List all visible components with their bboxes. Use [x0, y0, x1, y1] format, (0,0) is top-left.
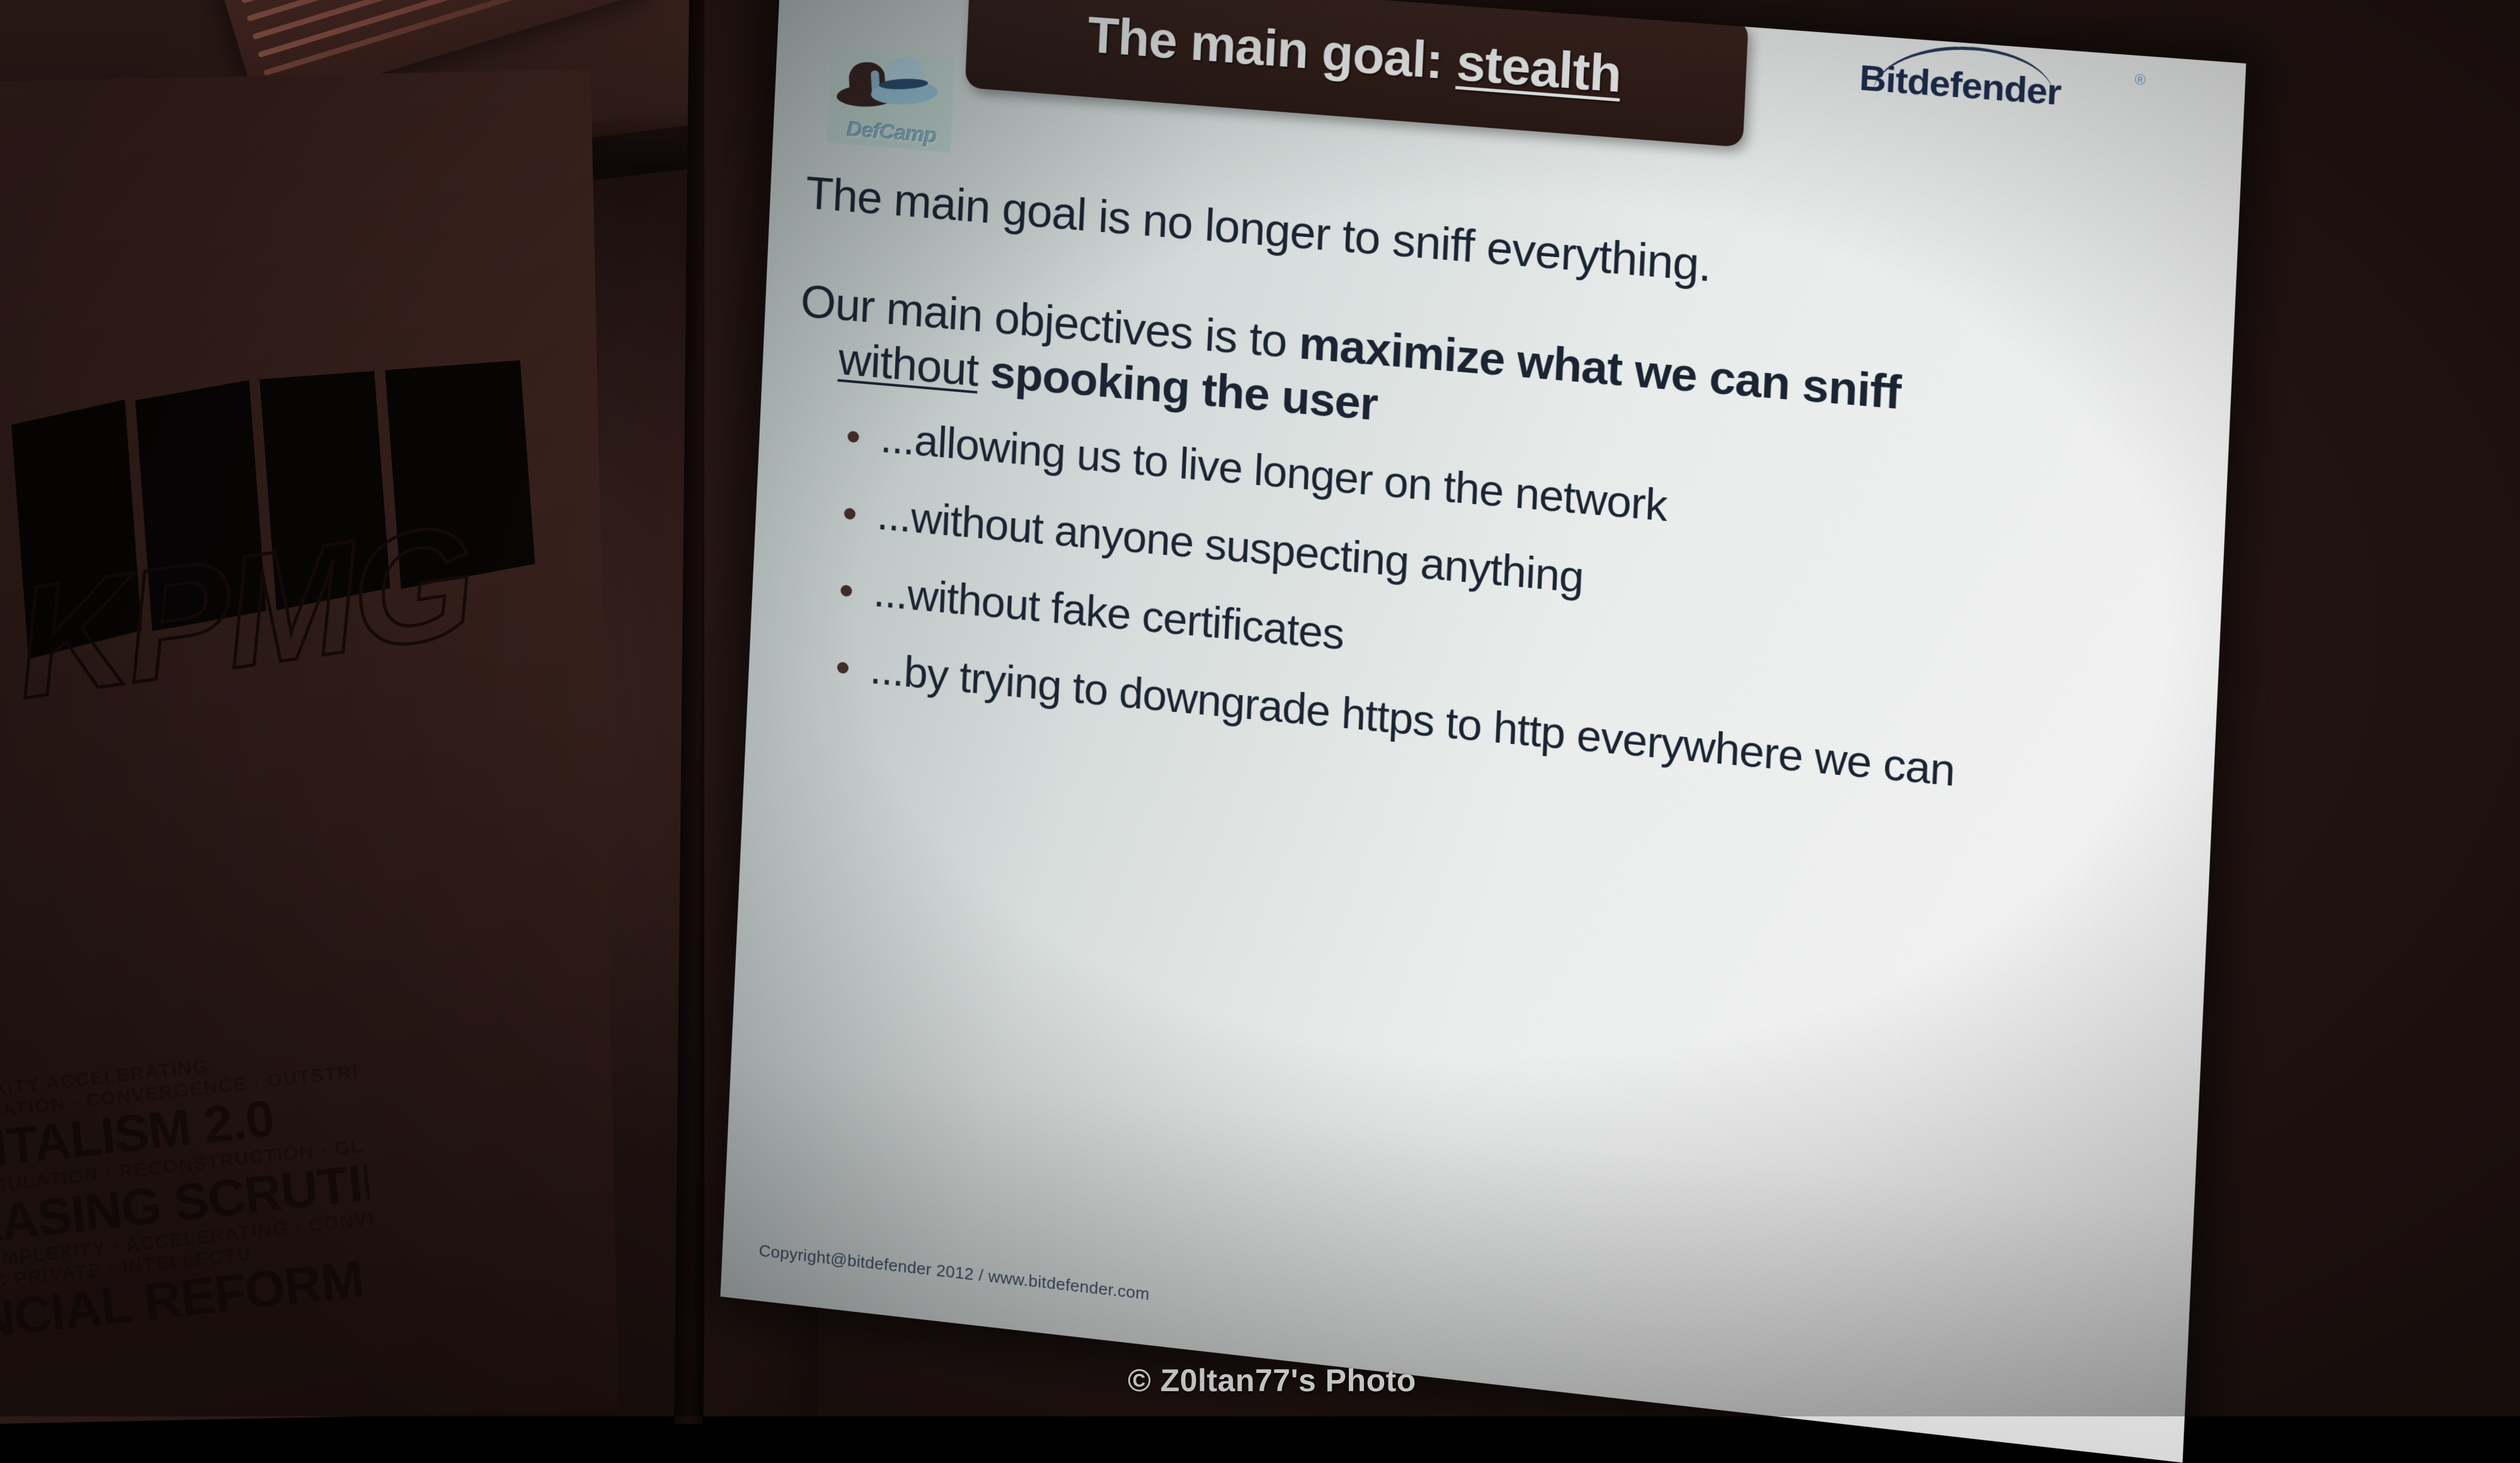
registered-trademark-icon: ® [2134, 71, 2146, 89]
photo-watermark: © Z0ltan77's Photo [1128, 1362, 1416, 1399]
projection-screen-area: DefCamp The main goal: stealth Bitdefend… [781, 0, 2224, 1355]
projected-slide: DefCamp The main goal: stealth Bitdefend… [720, 0, 2246, 1462]
page-title: The main goal: stealth [1086, 5, 1622, 104]
poster-typographic-block: PLEXITY ACCELERATING ALIZATION · CONVERG… [0, 1040, 382, 1348]
white-hat-icon [870, 55, 939, 110]
objective-underline: without [837, 334, 979, 396]
title-prefix: The main goal: [1087, 6, 1458, 90]
defcamp-wordmark: DefCamp [832, 116, 952, 150]
slide-copyright-footer: Copyright@bitdefender 2012 / www.bitdefe… [759, 1241, 1150, 1304]
slide-title-bar: The main goal: stealth [965, 0, 1749, 147]
kpmg-wall-poster: KPMG PLEXITY ACCELERATING ALIZATION · CO… [0, 69, 619, 1424]
bitdefender-logo: Bitdefender ® [1857, 42, 2143, 141]
title-emphasis: stealth [1455, 33, 1622, 103]
slide-body: The main goal is no longer to sniff ever… [782, 166, 2117, 838]
defcamp-logo: DefCamp [827, 47, 954, 152]
kpmg-logo-icon: KPMG [9, 360, 556, 737]
